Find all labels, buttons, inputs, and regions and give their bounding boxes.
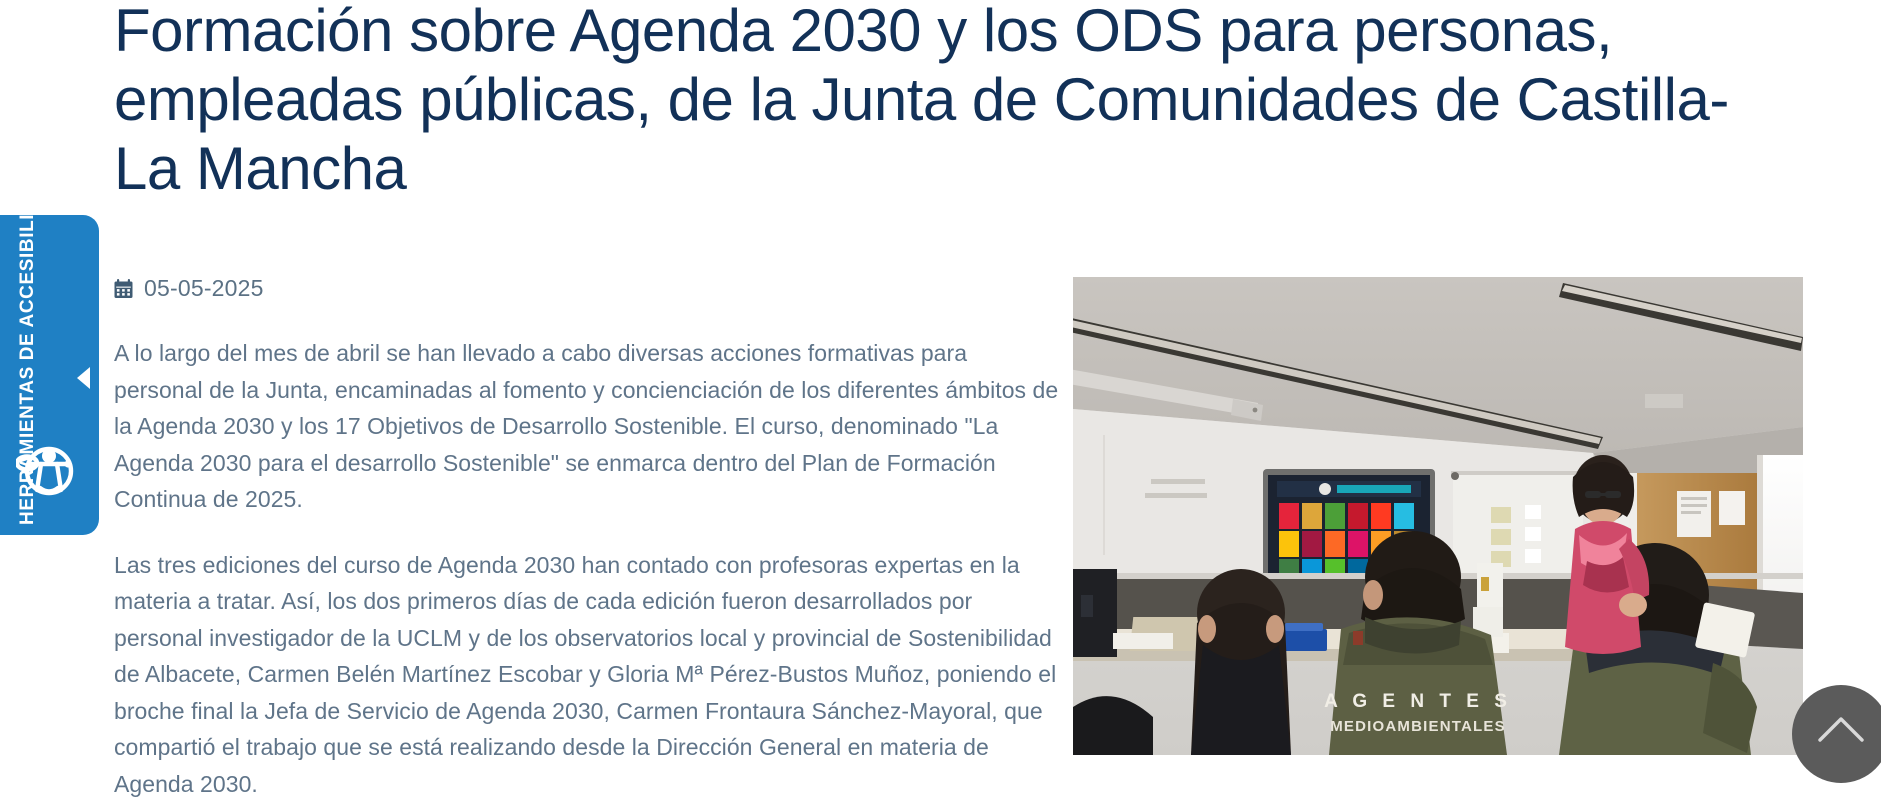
svg-text:A G E N T E S: A G E N T E S [1324,691,1512,712]
page-title: Formación sobre Agenda 2030 y los ODS pa… [114,0,1739,203]
article-paragraph: A lo largo del mes de abril se han lleva… [114,335,1059,518]
svg-text:MEDIOAMBIENTALES: MEDIOAMBIENTALES [1330,718,1506,735]
publication-date: 05-05-2025 [144,275,264,302]
chevron-up-icon [1818,715,1864,743]
publication-date-row: 05-05-2025 [114,275,264,302]
article-body: A lo largo del mes de abril se han lleva… [114,335,1059,802]
scroll-to-top-button[interactable] [1792,685,1881,783]
calendar-icon [114,279,133,299]
triangle-left-icon[interactable] [77,367,90,389]
classroom-training-photo: A G E N T E S MEDIOAMBIENTALES [1073,277,1803,755]
article-page: Formación sobre Agenda 2030 y los ODS pa… [0,0,1881,805]
article-paragraph: Las tres ediciones del curso de Agenda 2… [114,547,1059,803]
universal-access-icon[interactable] [16,440,78,502]
accessibility-tools-panel[interactable]: HERRAMIENTAS DE ACCESIBILIDAD [0,215,99,535]
